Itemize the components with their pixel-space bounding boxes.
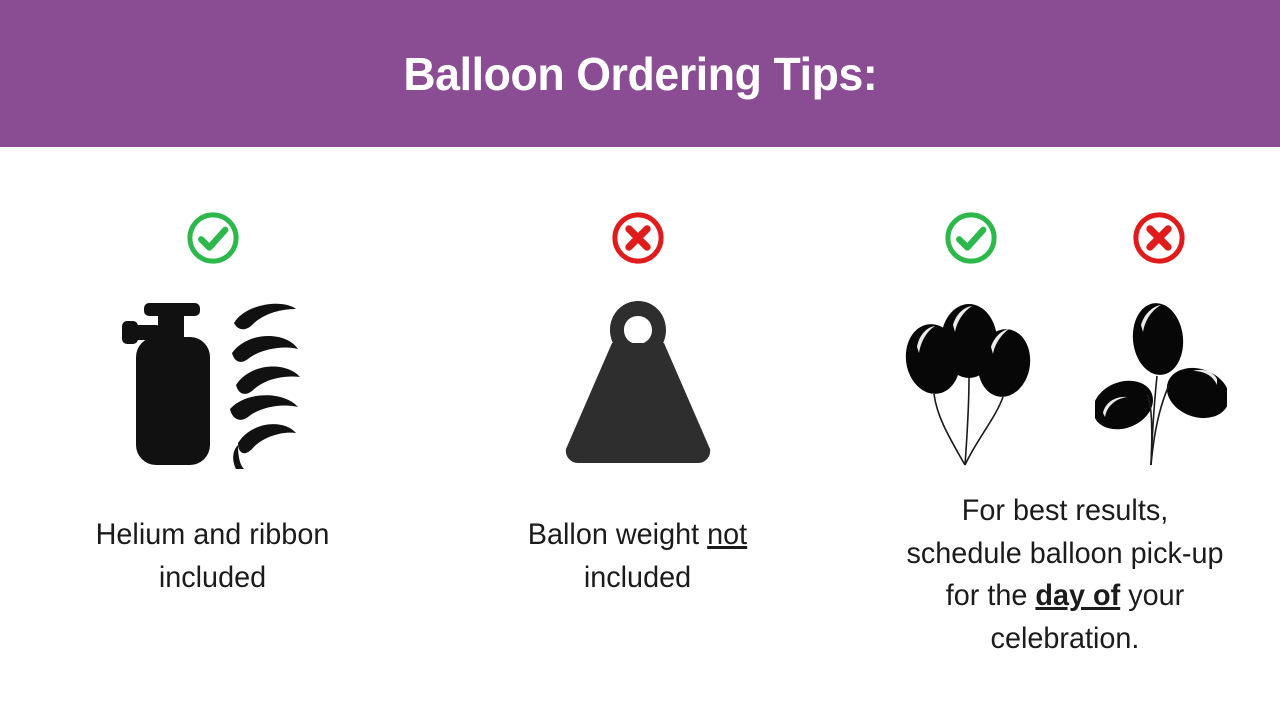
column-helium-ribbon: Helium and ribbon included	[0, 147, 425, 720]
deflated-balloons-icon	[1095, 297, 1227, 469]
red-cross-circle-icon	[609, 209, 667, 267]
caption-underlined-not: not	[707, 518, 747, 551]
caption-balloon-weight: Ballon weight not included	[434, 514, 842, 599]
header-band: Balloon Ordering Tips:	[0, 0, 1280, 147]
green-check-circle-icon	[184, 209, 242, 267]
slide-root: Balloon Ordering Tips:	[0, 0, 1280, 720]
caption-emphasis-day-of: day of	[1035, 579, 1120, 612]
column-1-artwork	[0, 297, 425, 469]
content-columns: Helium and ribbon included	[0, 147, 1280, 720]
caption-helium-ribbon: Helium and ribbon included	[9, 514, 417, 599]
column-2-artwork	[425, 297, 850, 467]
inflated-balloons-icon	[903, 297, 1035, 469]
weight-icon	[554, 297, 722, 467]
caption-line-2: included	[159, 561, 266, 594]
curly-ribbon-icon	[226, 297, 304, 469]
red-cross-circle-icon	[1130, 209, 1188, 267]
page-title: Balloon Ordering Tips:	[403, 51, 877, 97]
caption-pickup-timing: For best results, schedule balloon pick-…	[859, 490, 1272, 660]
green-check-circle-icon	[942, 209, 1000, 267]
helium-tank-icon	[122, 297, 226, 469]
column-balloon-weight: Ballon weight not included	[425, 147, 850, 720]
column-1-marks	[0, 209, 425, 267]
caption-segment-1: Ballon weight	[528, 518, 707, 551]
column-pickup-timing: For best results, schedule balloon pick-…	[850, 147, 1280, 720]
caption-line-1: Helium and ribbon	[96, 518, 330, 551]
column-3-marks	[850, 209, 1280, 267]
column-3-artwork	[850, 297, 1280, 469]
column-2-marks	[425, 209, 850, 267]
caption-segment-2: included	[584, 561, 691, 594]
